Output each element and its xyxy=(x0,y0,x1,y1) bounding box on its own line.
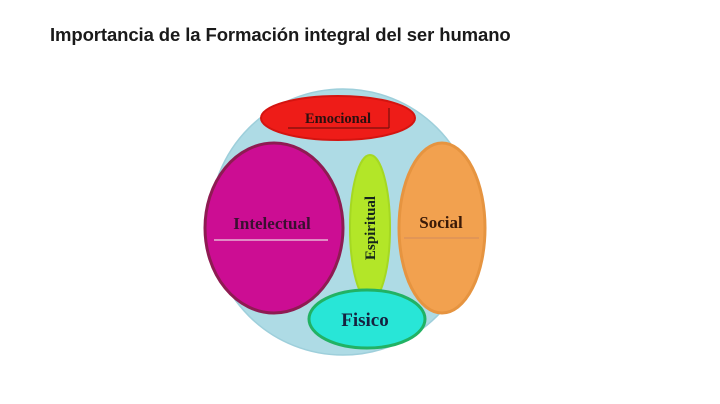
label-social: Social xyxy=(419,213,463,232)
label-intelectual: Intelectual xyxy=(233,214,311,233)
formacion-integral-diagram: Emocional Intelectual Espiritual Social … xyxy=(0,0,720,404)
label-fisico: Fisico xyxy=(341,310,389,331)
label-emocional: Emocional xyxy=(305,111,371,127)
label-espiritual: Espiritual xyxy=(363,196,379,260)
slide-canvas: Importancia de la Formación integral del… xyxy=(0,0,720,404)
